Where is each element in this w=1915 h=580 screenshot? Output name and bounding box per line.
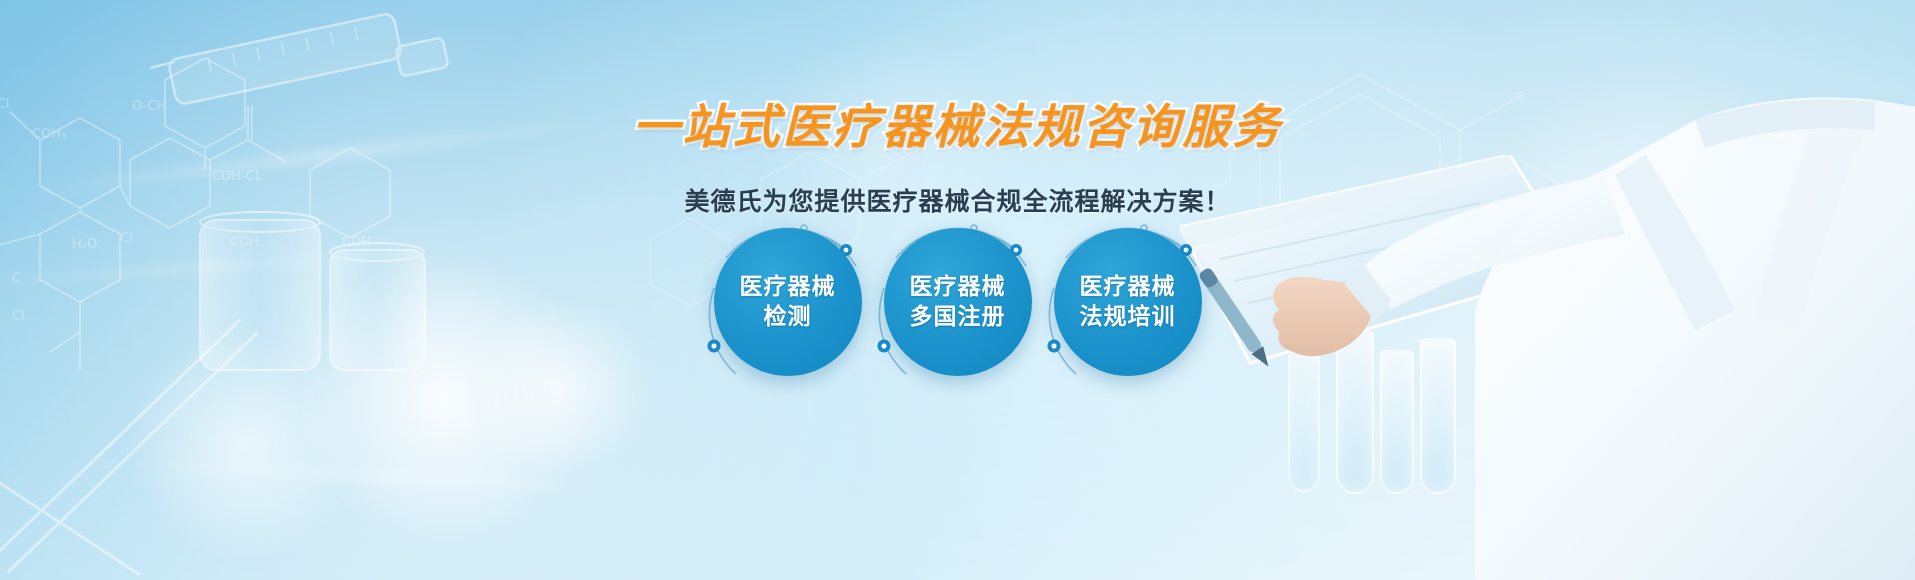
page-subtitle: 美德氏为您提供医疗器械合规全流程解决方案！	[0, 182, 1915, 218]
service-label-line2: 检测	[764, 302, 812, 332]
service-label-line2: 法规培训	[1080, 302, 1176, 332]
service-label-line1: 医疗器械	[740, 272, 836, 302]
service-label-line1: 医疗器械	[1080, 272, 1176, 302]
page-title: 一站式医疗器械法规咨询服务	[0, 88, 1915, 157]
service-circle-detection[interactable]: 医疗器械 检测	[714, 228, 862, 376]
service-circle-body[interactable]: 医疗器械 多国注册	[884, 228, 1032, 376]
service-circle-group: 医疗器械 检测 医疗器械 多国注册	[0, 228, 1915, 376]
service-label-line2: 多国注册	[910, 302, 1006, 332]
service-circle-body[interactable]: 医疗器械 检测	[714, 228, 862, 376]
service-label-line1: 医疗器械	[910, 272, 1006, 302]
service-circle-registration[interactable]: 医疗器械 多国注册	[884, 228, 1032, 376]
hero-banner: - Cl COH₃ O-CH COH-CL H₂O Cl Cl C Cl COH…	[0, 0, 1915, 580]
service-circle-body[interactable]: 医疗器械 法规培训	[1054, 228, 1202, 376]
service-circle-training[interactable]: 医疗器械 法规培训	[1054, 228, 1202, 376]
